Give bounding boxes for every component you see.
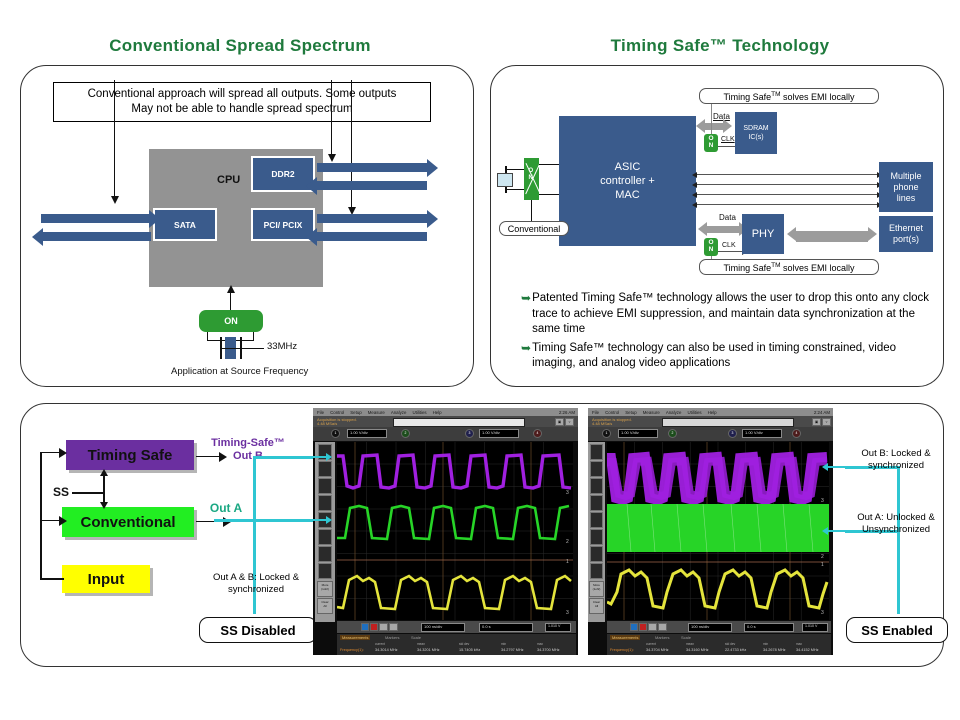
- scope-memory-bar-right[interactable]: [662, 418, 794, 427]
- scope-tool-icon-7[interactable]: [590, 546, 603, 562]
- svg-text:1: 1: [821, 562, 824, 568]
- label-out-a: Out A: [196, 501, 256, 515]
- asic-line-3: MAC: [615, 188, 639, 202]
- left-note-line-2: synchronized: [196, 584, 316, 596]
- scope-clock-right: 2:24 AM: [814, 410, 830, 415]
- scope-timebase-left[interactable]: 100 ns/div: [421, 623, 465, 632]
- scope-menu-analyze[interactable]: Analyze: [391, 410, 407, 415]
- scope-tab-markers-left[interactable]: Markers: [385, 635, 399, 640]
- scope-val-max-left: 34.3700 MHz: [537, 648, 560, 652]
- scope-stop-button-right[interactable]: [639, 623, 647, 631]
- scope-autoscale-button-right[interactable]: [658, 623, 667, 631]
- phy-block: PHY: [742, 214, 784, 254]
- scope-tool-icon-3[interactable]: [590, 478, 603, 494]
- bullet-arrow-icon: ➥: [521, 341, 531, 372]
- scope-menu-utilities[interactable]: Utilities: [412, 410, 426, 415]
- scope-tab-scale-left[interactable]: Scale: [411, 635, 421, 640]
- input-bus-to-conventional: [40, 520, 60, 521]
- data-bus-top: [705, 123, 723, 130]
- scope-menu-measure[interactable]: Measure: [643, 410, 660, 415]
- phone-line-2: [697, 184, 877, 185]
- scope-delay-left[interactable]: 0.0 s: [479, 623, 533, 632]
- arrow-pci-out: [317, 214, 427, 223]
- scope-run-button-left[interactable]: [361, 623, 369, 631]
- xtal2-body: [497, 173, 513, 187]
- scope-zoom-icon-left[interactable]: ▣: [555, 418, 564, 426]
- xtal-wire: [222, 348, 264, 349]
- scope-hdr-mean-left: mean: [417, 642, 425, 646]
- ss-arrow-up: [100, 469, 108, 476]
- arrow-pci-in: [317, 232, 427, 241]
- arrow-sata-in: [43, 232, 151, 241]
- scope-hdr-min-left: min: [501, 642, 506, 646]
- scope-acquisition-left: Acquisition is stopped. 4.48 MSa/s: [317, 418, 357, 427]
- callout-emi-bottom-rest: solves EMI locally: [781, 263, 855, 273]
- scope-tab-markers-right[interactable]: Markers: [655, 635, 669, 640]
- scope-menu-help[interactable]: Help: [708, 410, 717, 415]
- scope-menu-utilities[interactable]: Utilities: [687, 410, 701, 415]
- ethernet-line-2: port(s): [893, 234, 919, 245]
- callout-conventional: Conventional: [499, 221, 569, 236]
- scope-menubar-right[interactable]: File Control Setup Measure Analyze Utili…: [588, 408, 833, 416]
- bullet-item: ➥ Timing Safe™ technology can also be us…: [521, 341, 931, 372]
- svg-text:3: 3: [566, 490, 569, 496]
- scope-menu-file[interactable]: File: [592, 410, 599, 415]
- on-square-bottom: ON: [704, 238, 718, 256]
- block-timing-safe: Timing Safe: [66, 440, 194, 470]
- scope-tool-icon-3[interactable]: [318, 478, 332, 494]
- scope-val-current-left: 34.3014 MHz: [375, 648, 398, 652]
- svg-text:2: 2: [566, 539, 569, 545]
- svg-text:1: 1: [566, 559, 569, 565]
- scope-row-label-right: Frequency(1):: [610, 648, 634, 652]
- cyan-pointer-b-left: [300, 456, 326, 458]
- scope-more-button-left[interactable]: More(1of2): [317, 581, 333, 597]
- phy-ethernet-bus: [796, 231, 868, 242]
- asic-line-2: controller +: [600, 174, 655, 188]
- clk-label-bottom: CLK: [722, 242, 736, 249]
- conventional-osc-on-label: ON: [529, 168, 534, 182]
- scope-val-mean-right: 34.3160 MHz: [686, 648, 709, 652]
- scope-hdr-stddev-left: std dev: [459, 642, 469, 646]
- scope-ch4-button-left[interactable]: 4: [533, 429, 542, 438]
- left-panel-title: Conventional Spread Spectrum: [20, 36, 460, 56]
- clock-feed-arrowhead: [227, 285, 235, 293]
- scope-hdr-max-left: max: [537, 642, 543, 646]
- scope-tool-icon-6[interactable]: [318, 529, 332, 545]
- callout-emi-top-text: Timing Safe: [723, 92, 771, 102]
- left-note: Out A & B: Locked & synchronized: [196, 572, 316, 596]
- block-sata: SATA: [153, 208, 217, 241]
- scope-tool-icon-5[interactable]: [590, 512, 603, 528]
- clk-label-top: CLK: [721, 136, 735, 143]
- scope-val-stddev-left: 15.7405 kHz: [459, 648, 480, 652]
- scope-val-min-left: 34.2797 MHz: [501, 648, 524, 652]
- scope-val-stddev-right: 22.4733 kHz: [725, 648, 746, 652]
- right-note-out-a: Out A: Unlocked & Unsynchronized: [834, 512, 958, 536]
- svg-text:3: 3: [821, 610, 824, 616]
- scope-ch3-scale-left[interactable]: 1.00 V/div: [479, 429, 519, 438]
- ss-label: SS: [53, 485, 69, 499]
- scope-clock-left: 2:26 AM: [559, 410, 575, 415]
- xtal2-conn-top: [539, 164, 559, 165]
- label-out-b: Timing-Safe™ Out B: [198, 437, 298, 463]
- on-pill-left: ON: [199, 310, 263, 332]
- sdram-block: SDRAM IC(s): [735, 112, 777, 154]
- callout-emi-bottom-text: Timing Safe: [723, 263, 771, 273]
- scope-timebase-right[interactable]: 100 ns/div: [688, 623, 732, 632]
- ethernet-ports-block: Ethernet port(s): [879, 216, 933, 252]
- scope-menu-setup[interactable]: Setup: [350, 410, 361, 415]
- phone-line-3: [697, 194, 877, 195]
- svg-text:3: 3: [821, 498, 824, 504]
- scope-tool-icon-7[interactable]: [318, 546, 332, 562]
- scope-tool-icon-2[interactable]: [318, 461, 332, 477]
- phone-line-label-3: lines: [897, 193, 916, 204]
- bullet-text: Timing Safe™ technology can also be used…: [532, 341, 931, 372]
- right-note-out-b: Out B: Locked & synchronized: [838, 448, 954, 472]
- scope-tool-icon-8[interactable]: [318, 563, 332, 579]
- scope-marker-icon-left[interactable]: ▿: [565, 418, 574, 426]
- scope-val-max-right: 34.4152 MHz: [796, 648, 819, 652]
- bullet-arrow-icon: ➥: [521, 291, 531, 338]
- emi-callout-top-lead: [711, 104, 712, 134]
- spread-line-left: [114, 80, 115, 197]
- right-note-b-line-1: Out B: Locked &: [838, 448, 954, 460]
- xtal-lead-right: [253, 332, 254, 341]
- phone-line-label-2: phone: [893, 182, 918, 193]
- left-panel-callout: Conventional approach will spread all ou…: [53, 82, 431, 122]
- bullet-item: ➥ Patented Timing Safe™ technology allow…: [521, 291, 931, 338]
- svg-text:3: 3: [566, 610, 569, 616]
- scope-hdr-mean-right: mean: [686, 642, 694, 646]
- right-note-a-line-2: Unsynchronized: [834, 524, 958, 536]
- ss-vertical-double-arrow: [103, 472, 105, 506]
- scope-autoscale-button-left[interactable]: [389, 623, 398, 631]
- scope-tab-measurements-left[interactable]: Measurements: [340, 635, 370, 640]
- right-note-a-line-1: Out A: Unlocked &: [834, 512, 958, 524]
- multiple-phone-lines-block: Multiple phone lines: [879, 162, 933, 212]
- input-bus-to-input: [40, 578, 64, 580]
- scope-ch4-button-right[interactable]: 4: [792, 429, 801, 438]
- scope-ch1-scale-right[interactable]: 1.00 V/div: [618, 429, 658, 438]
- data-bus-bottom: [707, 226, 739, 233]
- scope-menu-measure[interactable]: Measure: [368, 410, 385, 415]
- right-note-b-line-2: synchronized: [838, 460, 954, 472]
- acq-line-2: 4.48 MSa/s: [592, 422, 632, 427]
- scope-ch2-button-left[interactable]: 2: [401, 429, 410, 438]
- data-label-bottom: Data: [719, 213, 736, 222]
- on-square-top: ON: [704, 134, 718, 152]
- svg-text:2: 2: [821, 554, 824, 560]
- ss-arrow-down: [100, 502, 108, 509]
- scope-clear-all-button-right[interactable]: ClearAll: [589, 598, 604, 614]
- badge-ss-disabled: SS Disabled: [199, 617, 317, 643]
- scope-trigger-level-right[interactable]: 1.010 V: [802, 623, 828, 632]
- conventional-callout-lead: [531, 200, 532, 222]
- scope-val-min-right: 34.2678 MHz: [763, 648, 786, 652]
- scope-ch2-button-right[interactable]: 2: [668, 429, 677, 438]
- scope-tool-icon-1[interactable]: [590, 444, 603, 460]
- oscilloscope-right[interactable]: File Control Setup Measure Analyze Utili…: [588, 408, 833, 655]
- acq-line-2: 4.48 MSa/s: [317, 422, 357, 427]
- callout-emi-bottom: Timing SafeTM solves EMI locally: [699, 259, 879, 275]
- scope-menu-help[interactable]: Help: [433, 410, 442, 415]
- scope-menu-file[interactable]: File: [317, 410, 324, 415]
- arrow-ddr2-out: [317, 163, 427, 172]
- cyan-pointer-a-left: [300, 519, 326, 521]
- ss-connector: [72, 492, 104, 494]
- scope-menubar-left[interactable]: File Control Setup Measure Analyze Utili…: [313, 408, 578, 416]
- scope-ch1-scale-left[interactable]: 1.00 V/div: [347, 429, 387, 438]
- scope-hdr-max-right: max: [796, 642, 802, 646]
- scope-tool-icon-6[interactable]: [590, 529, 603, 545]
- clk-line-bottom: [718, 251, 742, 252]
- cpu-label: CPU: [217, 174, 240, 186]
- scope-delay-right[interactable]: 0.0 s: [744, 623, 794, 632]
- scope-ch3-button-left[interactable]: 3: [465, 429, 474, 438]
- scope-ch3-scale-right[interactable]: 1.00 V/div: [742, 429, 782, 438]
- scope-menu-control[interactable]: Control: [605, 410, 619, 415]
- cyan-vertical-right: [897, 466, 900, 614]
- xtal-lead-left: [207, 332, 208, 341]
- block-conventional: Conventional: [62, 507, 194, 537]
- ethernet-line-1: Ethernet: [889, 223, 923, 234]
- scope-menu-analyze[interactable]: Analyze: [666, 410, 682, 415]
- scope-single-button-right[interactable]: [648, 623, 657, 631]
- spread-line-mid: [331, 80, 332, 155]
- frequency-label: 33MHz: [267, 341, 297, 352]
- oscilloscope-left[interactable]: File Control Setup Measure Analyze Utili…: [313, 408, 578, 655]
- scope-hdr-current-left: current: [375, 642, 385, 646]
- left-panel: Conventional approach will spread all ou…: [20, 65, 474, 387]
- bullet-text: Patented Timing Safe™ technology allows …: [532, 291, 931, 338]
- scope-stop-button-left[interactable]: [370, 623, 378, 631]
- scope-ch1-button-right[interactable]: 1: [602, 429, 611, 438]
- scope-marker-icon-right[interactable]: ▿: [822, 418, 831, 426]
- scope-clear-all-button-left[interactable]: ClearAll: [317, 598, 333, 614]
- xtal2-lead-top: [506, 169, 524, 170]
- scope-row-label-left: Frequency(1):: [340, 648, 364, 652]
- phone-line-1: [697, 174, 877, 175]
- scope-more-button-right[interactable]: More(1of2): [589, 581, 604, 597]
- arrow-sata-out: [41, 214, 149, 223]
- scope-hdr-min-right: min: [763, 642, 768, 646]
- scope-trigger-level-left[interactable]: 1.010 V: [545, 623, 571, 632]
- scope-hdr-stddev-right: std dev: [725, 642, 735, 646]
- scope-tool-icon-4[interactable]: [590, 495, 603, 511]
- sdram-line-2: IC(s): [748, 133, 763, 142]
- block-input: Input: [62, 565, 150, 593]
- scope-tool-icon-4[interactable]: [318, 495, 332, 511]
- right-panel: Timing SafeTM solves EMI locally ASIC co…: [490, 65, 944, 387]
- sdram-line-1: SDRAM: [743, 124, 768, 133]
- left-note-line-1: Out A & B: Locked &: [196, 572, 316, 584]
- scope-tab-measurements-right[interactable]: Measurements: [610, 635, 640, 640]
- right-panel-title: Timing Safe™ Technology: [500, 36, 940, 56]
- scope-val-current-right: 34.3704 MHz: [646, 648, 669, 652]
- scope-ch1-button-left[interactable]: 1: [331, 429, 340, 438]
- xtal2-conn-bot: [539, 194, 559, 195]
- scope-tab-scale-right[interactable]: Scale: [681, 635, 691, 640]
- scope-waveform-area-right[interactable]: 3 2 1 3: [607, 442, 829, 620]
- left-panel-caption: Application at Source Frequency: [171, 366, 308, 377]
- scope-tool-icon-2[interactable]: [590, 461, 603, 477]
- scope-single-button-left[interactable]: [379, 623, 388, 631]
- out-b-line-1: Timing-Safe™: [198, 437, 298, 450]
- right-panel-bullets: ➥ Patented Timing Safe™ technology allow…: [521, 291, 931, 375]
- arrow-ddr2-in: [317, 181, 427, 190]
- phone-line-4: [697, 204, 877, 205]
- xtal2-lead-bot: [506, 189, 524, 190]
- scope-menu-control[interactable]: Control: [330, 410, 344, 415]
- tm-sup-top: TM: [771, 91, 780, 98]
- scope-menu-setup[interactable]: Setup: [625, 410, 636, 415]
- scope-memory-bar-left[interactable]: [393, 418, 525, 427]
- phone-line-label-1: Multiple: [890, 171, 921, 182]
- input-bus-vertical: [40, 452, 42, 579]
- asic-block: ASIC controller + MAC: [559, 116, 696, 246]
- scope-zoom-icon-right[interactable]: ▣: [812, 418, 821, 426]
- tm-sup-bottom: TM: [771, 262, 780, 269]
- input-bus-to-timing-safe: [40, 452, 60, 453]
- scope-ch3-button-right[interactable]: 3: [728, 429, 737, 438]
- scope-val-mean-left: 34.3201 MHz: [417, 648, 440, 652]
- callout-emi-top-rest: solves EMI locally: [781, 92, 855, 102]
- callout-emi-top: Timing SafeTM solves EMI locally: [699, 88, 879, 104]
- scope-hdr-current-right: current: [646, 642, 656, 646]
- scope-run-button-right[interactable]: [630, 623, 638, 631]
- asic-line-1: ASIC: [615, 160, 641, 174]
- scope-waveform-area-left[interactable]: 3 2 1 3: [337, 442, 573, 620]
- scope-acquisition-right: Acquisition is stopped. 4.48 MSa/s: [592, 418, 632, 427]
- badge-ss-enabled: SS Enabled: [846, 617, 948, 643]
- scope-tool-icon-8[interactable]: [590, 563, 603, 579]
